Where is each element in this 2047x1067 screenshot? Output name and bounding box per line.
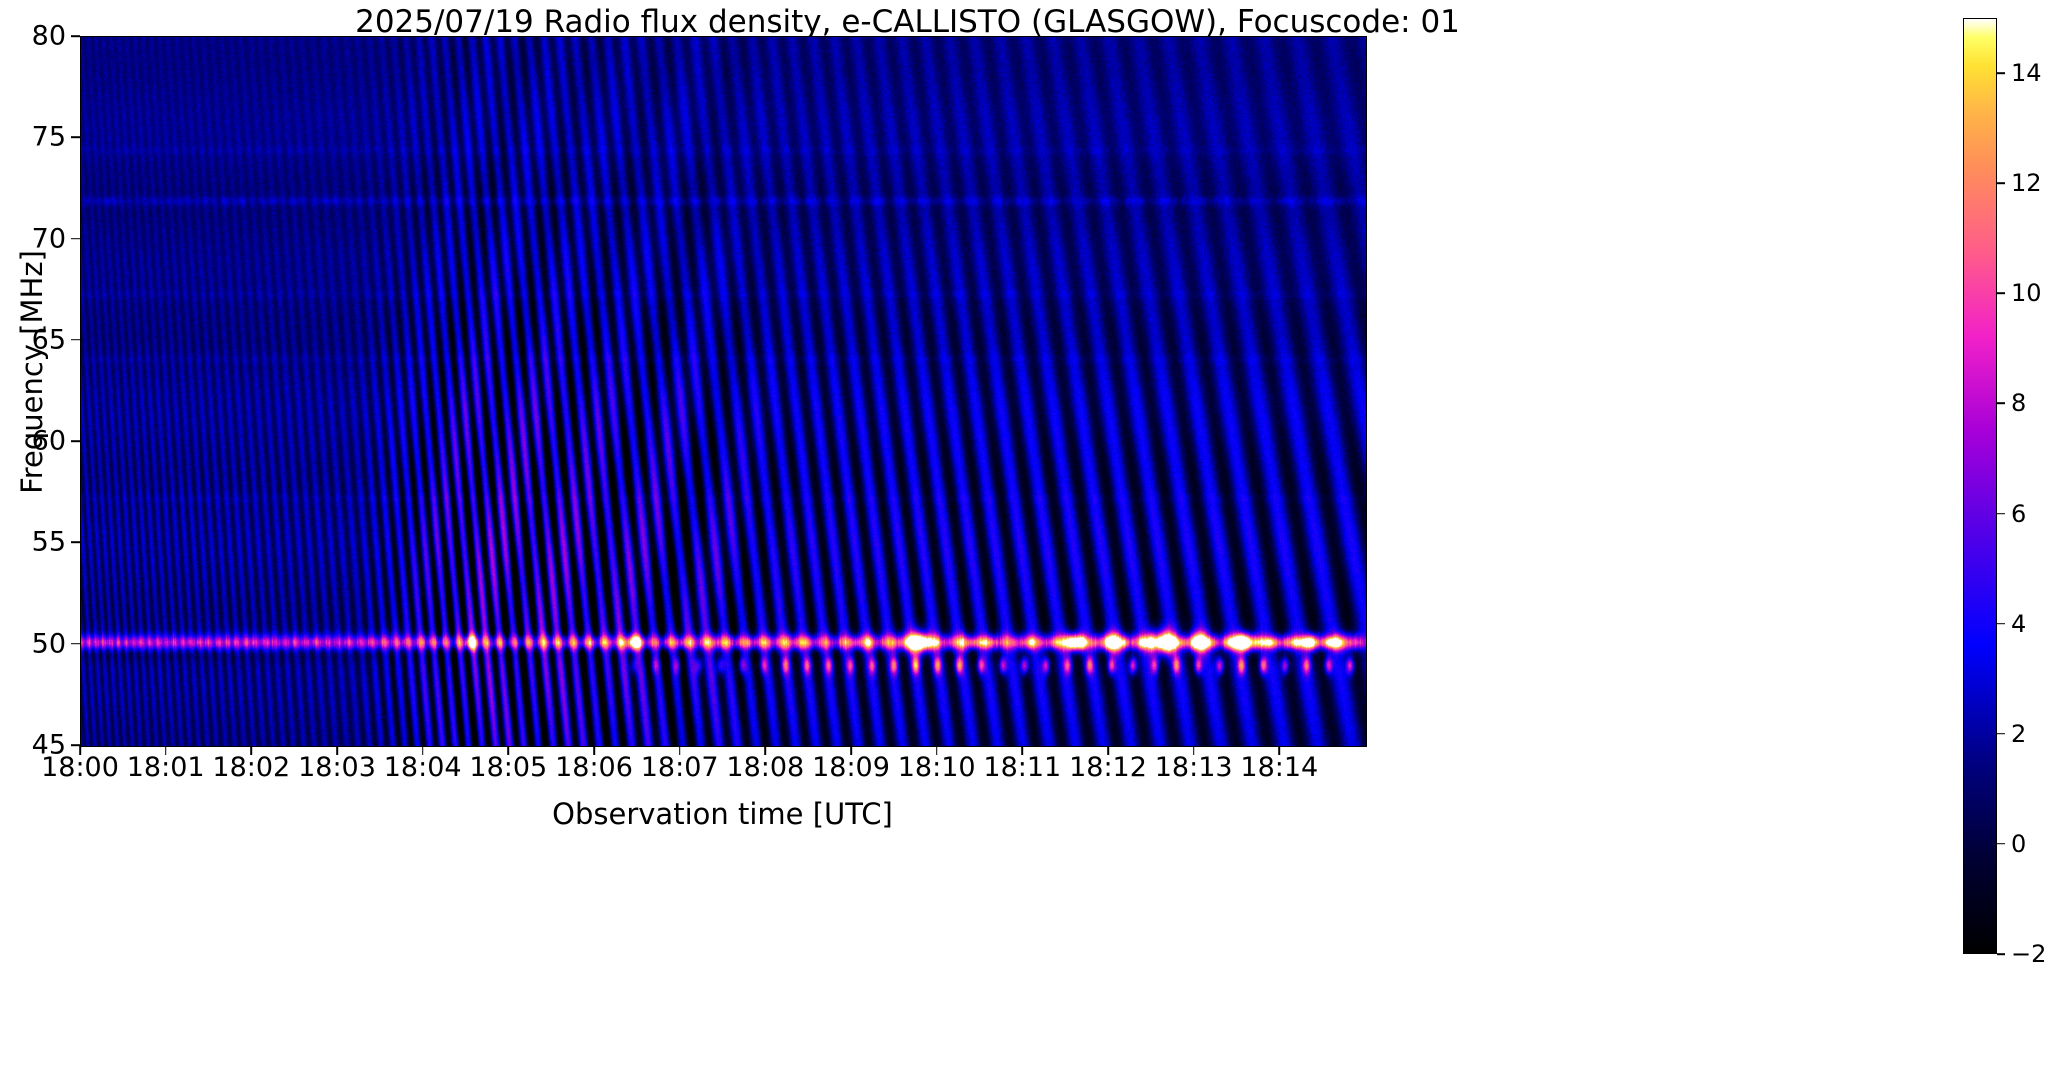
- x-tick-mark: [251, 746, 253, 755]
- x-tick-label: 18:00: [41, 752, 119, 783]
- spectrogram-image: [81, 37, 1366, 746]
- y-tick-label: 60: [32, 426, 66, 457]
- colorbar-tick-mark: [1997, 513, 2005, 515]
- colorbar-tick-label: −2: [2011, 940, 2046, 968]
- spectrogram-plot-area: [80, 36, 1367, 747]
- x-tick-mark: [79, 746, 81, 755]
- y-tick-label: 70: [32, 223, 66, 254]
- colorbar-tick-label: 10: [2011, 279, 2042, 307]
- x-tick-label: 18:07: [641, 752, 719, 783]
- colorbar-tick-mark: [1997, 843, 2005, 845]
- x-tick-label: 18:11: [983, 752, 1061, 783]
- x-tick-label: 18:12: [1069, 752, 1147, 783]
- colorbar: [1963, 18, 1997, 954]
- page-title: 2025/07/19 Radio flux density, e-CALLIST…: [0, 4, 1815, 40]
- x-tick-label: 18:02: [212, 752, 290, 783]
- x-tick-label: 18:03: [298, 752, 376, 783]
- colorbar-tick-label: 8: [2011, 389, 2026, 417]
- y-tick-mark: [71, 643, 80, 645]
- x-tick-label: 18:01: [127, 752, 205, 783]
- x-tick-label: 18:05: [469, 752, 547, 783]
- spectrogram-figure: 2025/07/19 Radio flux density, e-CALLIST…: [0, 0, 2047, 1067]
- y-tick-label: 55: [32, 527, 66, 558]
- y-tick-mark: [71, 136, 80, 138]
- y-tick-label: 75: [32, 122, 66, 153]
- y-tick-mark: [71, 440, 80, 442]
- colorbar-tick-label: 14: [2011, 59, 2042, 87]
- x-tick-label: 18:09: [812, 752, 890, 783]
- x-tick-label: 18:04: [384, 752, 462, 783]
- colorbar-tick-mark: [1997, 953, 2005, 955]
- x-tick-mark: [1022, 746, 1024, 755]
- colorbar-tick-mark: [1997, 72, 2005, 74]
- x-tick-label: 18:13: [1155, 752, 1233, 783]
- colorbar-tick-mark: [1997, 182, 2005, 184]
- x-tick-mark: [1107, 746, 1109, 755]
- colorbar-tick-label: 0: [2011, 830, 2026, 858]
- y-tick-mark: [71, 542, 80, 544]
- colorbar-tick-label: 6: [2011, 500, 2026, 528]
- colorbar-tick-label: 2: [2011, 720, 2026, 748]
- x-tick-mark: [508, 746, 510, 755]
- y-tick-label: 50: [32, 628, 66, 659]
- x-tick-mark: [593, 746, 595, 755]
- colorbar-tick-mark: [1997, 733, 2005, 735]
- x-tick-label: 18:14: [1240, 752, 1318, 783]
- colorbar-tick-label: 4: [2011, 610, 2026, 638]
- x-axis-label: Observation time [UTC]: [80, 797, 1365, 831]
- x-tick-mark: [850, 746, 852, 755]
- x-tick-label: 18:08: [726, 752, 804, 783]
- x-tick-mark: [1279, 746, 1281, 755]
- x-tick-mark: [1193, 746, 1195, 755]
- x-tick-label: 18:06: [555, 752, 633, 783]
- y-tick-mark: [71, 238, 80, 240]
- colorbar-tick-label: 12: [2011, 169, 2042, 197]
- colorbar-tick-mark: [1997, 403, 2005, 405]
- y-tick-mark: [71, 339, 80, 341]
- y-tick-label: 80: [32, 21, 66, 52]
- colorbar-gradient: [1963, 18, 1997, 954]
- x-tick-mark: [422, 746, 424, 755]
- x-tick-mark: [165, 746, 167, 755]
- colorbar-tick-mark: [1997, 623, 2005, 625]
- y-tick-mark: [71, 35, 80, 37]
- colorbar-tick-mark: [1997, 292, 2005, 294]
- x-tick-label: 18:10: [898, 752, 976, 783]
- x-tick-mark: [336, 746, 338, 755]
- x-tick-mark: [765, 746, 767, 755]
- x-tick-mark: [936, 746, 938, 755]
- colorbar-gradient-fill: [1964, 19, 1996, 953]
- x-tick-mark: [679, 746, 681, 755]
- y-tick-label: 65: [32, 324, 66, 355]
